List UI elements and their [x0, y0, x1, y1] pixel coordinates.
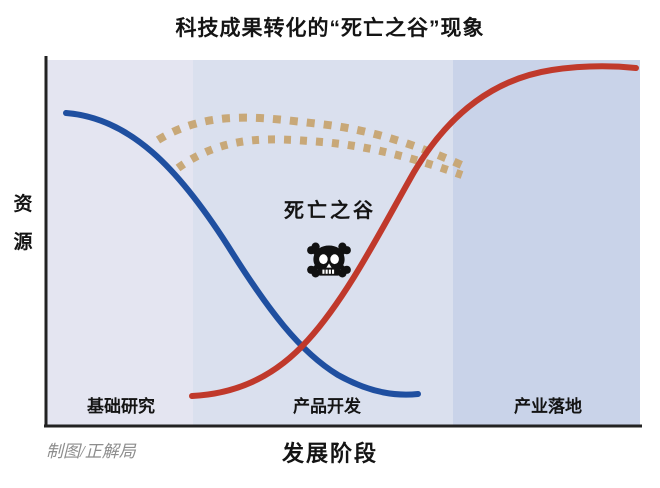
chart-figure: 科技成果转化的“死亡之谷”现象 资 源 死亡之谷 [0, 0, 660, 488]
watermark-credit: 制图/正解局 [46, 437, 136, 462]
skull-and-crossbones-icon [306, 240, 352, 280]
stage-band-industrialization [453, 60, 640, 425]
stage-label-product-development: 产品开发 [266, 392, 388, 417]
valley-of-death-label: 死亡之谷 [265, 194, 395, 223]
x-axis-label: 发展阶段 [200, 436, 460, 468]
stage-label-industrialization: 产业落地 [487, 392, 609, 417]
stage-label-basic-research: 基础研究 [60, 392, 182, 417]
